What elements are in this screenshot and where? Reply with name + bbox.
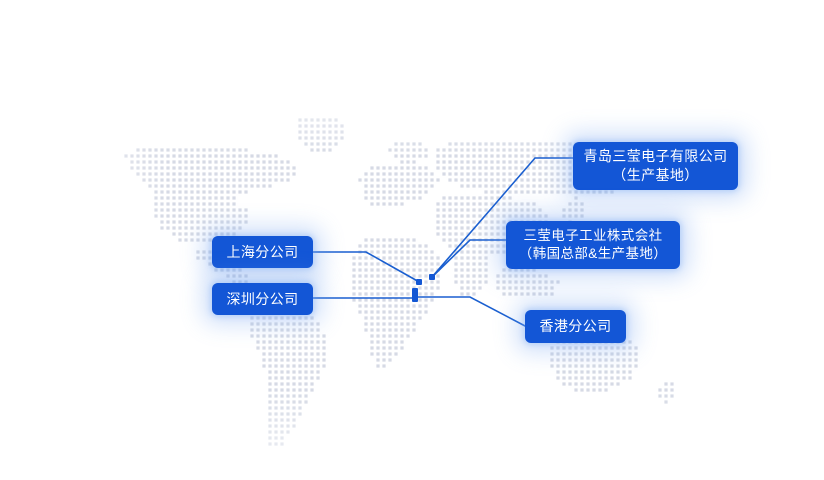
label-korea-line2: （韩国总部&生产基地） bbox=[519, 245, 667, 263]
label-qingdao-line2: （生产基地） bbox=[612, 166, 698, 185]
label-shanghai-branch[interactable]: 上海分公司 bbox=[212, 236, 313, 268]
world-map-diagram: 青岛三莹电子有限公司 （生产基地） 三莹电子工业株式会社 （韩国总部&生产基地）… bbox=[0, 0, 824, 480]
label-shenzhen-branch[interactable]: 深圳分公司 bbox=[212, 283, 313, 315]
map-dots-svg bbox=[0, 0, 824, 480]
label-hongkong-branch[interactable]: 香港分公司 bbox=[525, 310, 626, 343]
label-korea-headquarters[interactable]: 三莹电子工业株式会社 （韩国总部&生产基地） bbox=[506, 221, 680, 269]
label-korea-line1: 三莹电子工业株式会社 bbox=[524, 227, 663, 245]
marker-shenzhen-hongkong[interactable] bbox=[412, 288, 418, 302]
label-shenzhen-line1: 深圳分公司 bbox=[227, 290, 299, 309]
marker-shanghai[interactable] bbox=[416, 279, 422, 285]
marker-qingdao[interactable] bbox=[429, 274, 435, 280]
label-qingdao-line1: 青岛三莹电子有限公司 bbox=[584, 147, 728, 166]
label-qingdao-factory[interactable]: 青岛三莹电子有限公司 （生产基地） bbox=[573, 142, 738, 190]
label-shanghai-line1: 上海分公司 bbox=[227, 243, 299, 262]
dotted-world-map bbox=[0, 0, 824, 480]
label-hongkong-line1: 香港分公司 bbox=[540, 317, 612, 336]
